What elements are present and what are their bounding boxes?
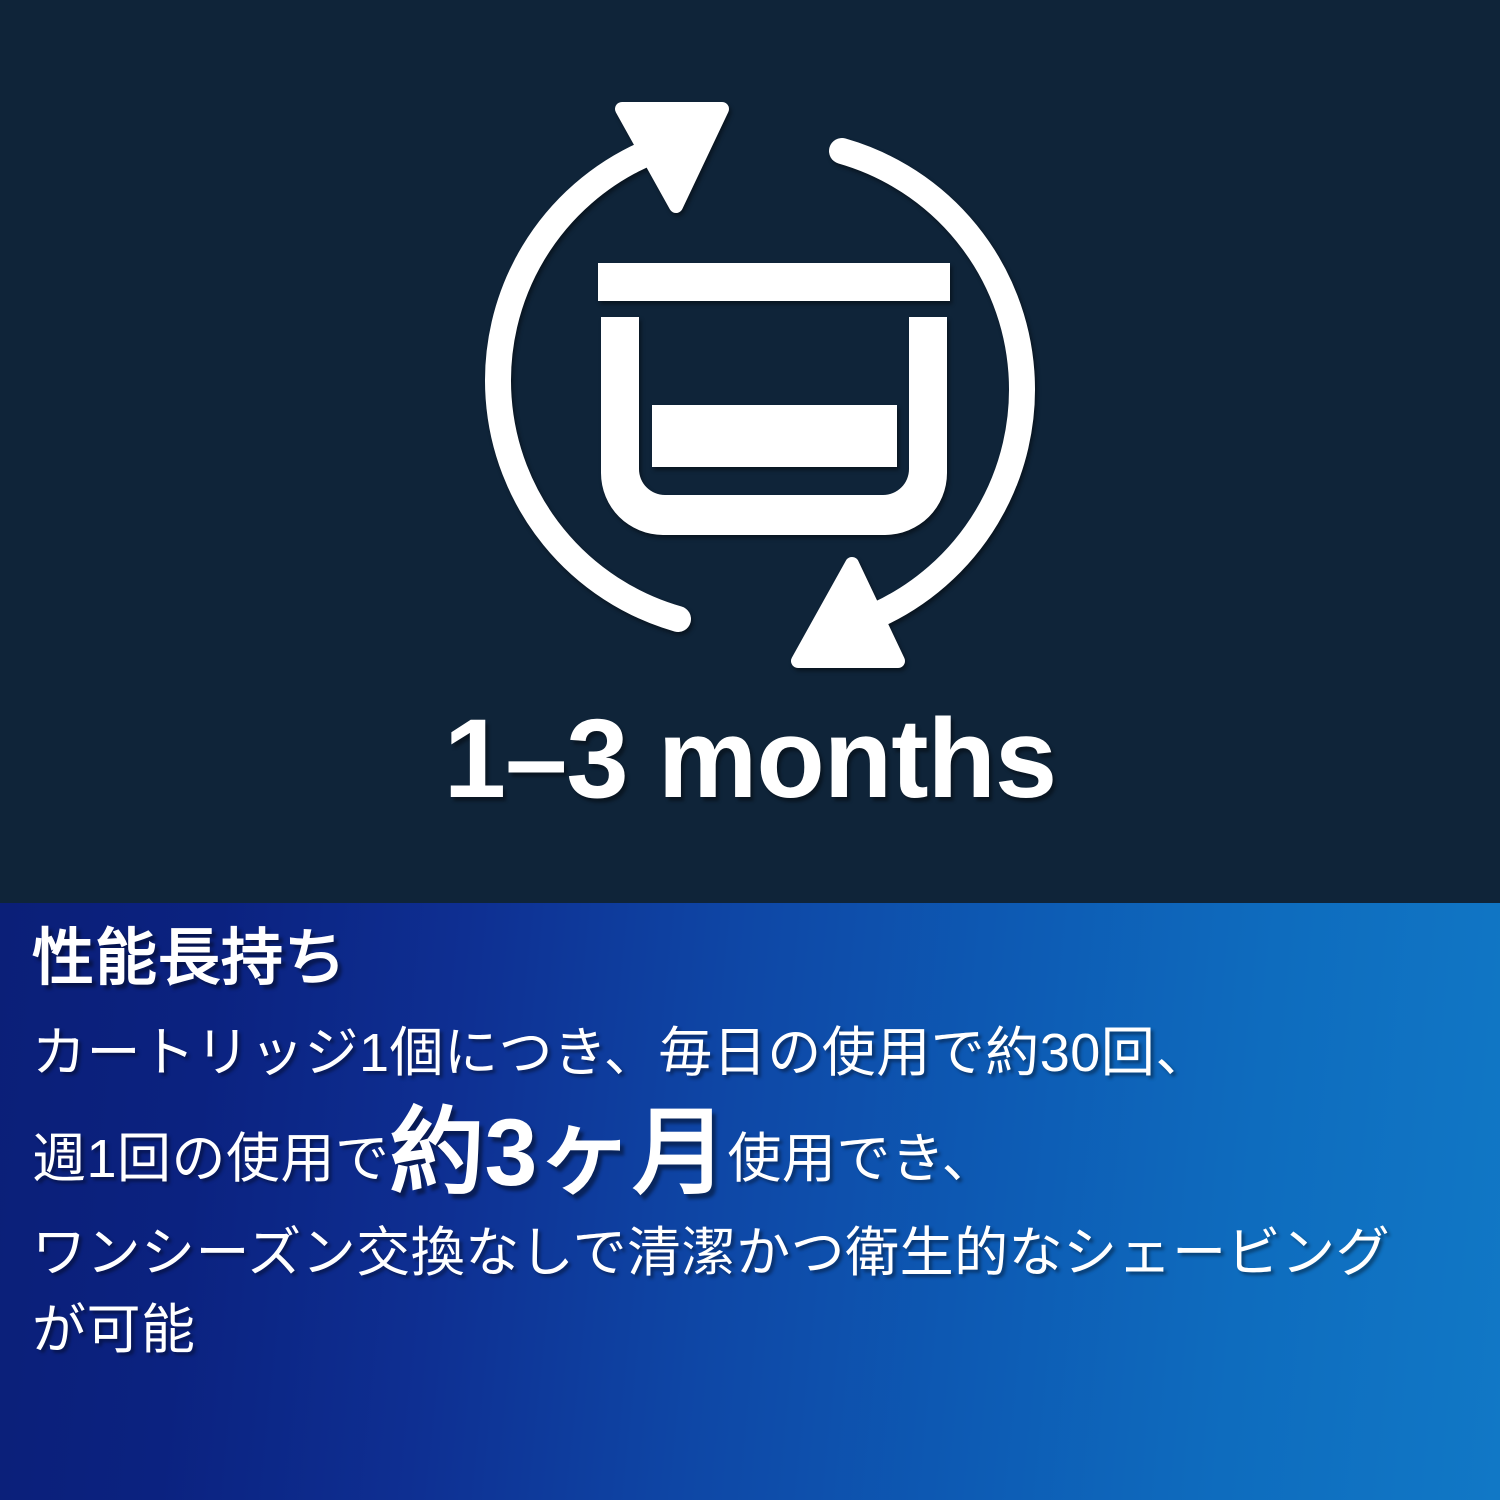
- bottom-copy-panel: 性能長持ち カートリッジ1個につき、毎日の使用で約30回、 週1回の使用で約3ヶ…: [0, 903, 1500, 1500]
- copy-body-line-3: ワンシーズン交換なしで清潔かつ衛生的なシェービング: [32, 1215, 1492, 1292]
- emphasized-duration: 約3ヶ月: [390, 1100, 728, 1206]
- copy-body-line-2-suffix: 使用でき、: [727, 1129, 996, 1189]
- recycle-refill-cartridge-icon: [470, 95, 1050, 675]
- copy-body-line-4: が可能: [32, 1292, 1492, 1369]
- page-title: 1–3 months: [0, 700, 1500, 818]
- copy-body-line-2-prefix: 週1回の使用で: [32, 1129, 390, 1189]
- copy-body-line-1: カートリッジ1個につき、毎日の使用で約30回、: [32, 1015, 1492, 1092]
- top-icon-panel: 1–3 months: [0, 0, 1500, 903]
- copy-body-line-2: 週1回の使用で約3ヶ月使用でき、: [32, 1092, 1492, 1216]
- copy-heading: 性能長持ち: [32, 925, 1492, 993]
- copy-body: カートリッジ1個につき、毎日の使用で約30回、 週1回の使用で約3ヶ月使用でき、…: [32, 1015, 1492, 1369]
- copy-block: 性能長持ち カートリッジ1個につき、毎日の使用で約30回、 週1回の使用で約3ヶ…: [32, 925, 1492, 1369]
- product-feature-poster: 1–3 months 性能長持ち カートリッジ1個につき、毎日の使用で約30回、…: [0, 0, 1500, 1500]
